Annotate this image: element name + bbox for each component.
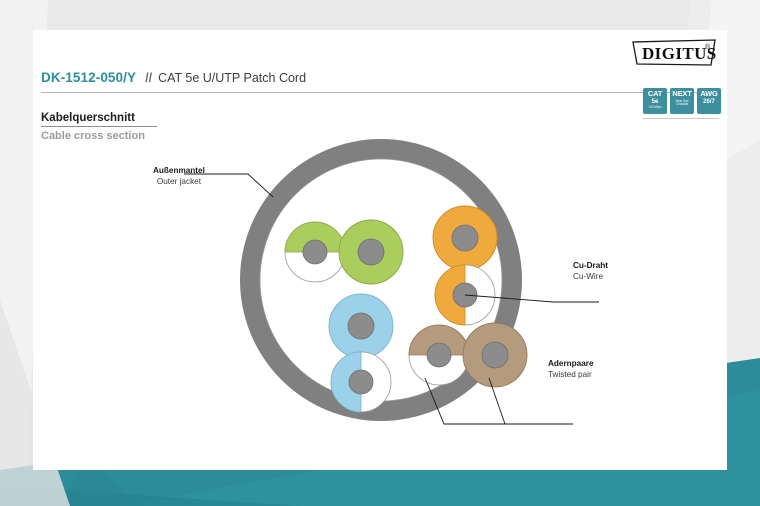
orange-solid-wire [433,206,497,270]
green-solid-wire [339,220,403,284]
twisted-pair-label-en: Twisted pair [548,369,594,380]
cu-wire-label-en: Cu-Wire [573,271,608,282]
annotation-twisted-pair: Adernpaare Twisted pair [548,358,594,380]
outer-jacket-label-en: Outer jacket [153,176,205,187]
brown-striped-wire [409,325,469,385]
green-striped-wire [285,222,345,282]
blue-solid-wire [329,294,393,358]
outer-jacket-label-de: Außenmantel [153,165,205,176]
annotation-cu-wire: Cu-Draht Cu-Wire [573,260,608,282]
cu-wire-label-de: Cu-Draht [573,260,608,271]
blue-striped-wire [331,352,391,412]
twisted-pair-label-de: Adernpaare [548,358,594,369]
content-card: DIGITUS ® DK-1512-050/Y // CAT 5e U/UTP … [33,30,727,470]
cable-cross-section-diagram [33,30,727,470]
annotation-outer-jacket: Außenmantel Outer jacket [153,165,205,187]
brown-solid-wire [463,323,527,387]
